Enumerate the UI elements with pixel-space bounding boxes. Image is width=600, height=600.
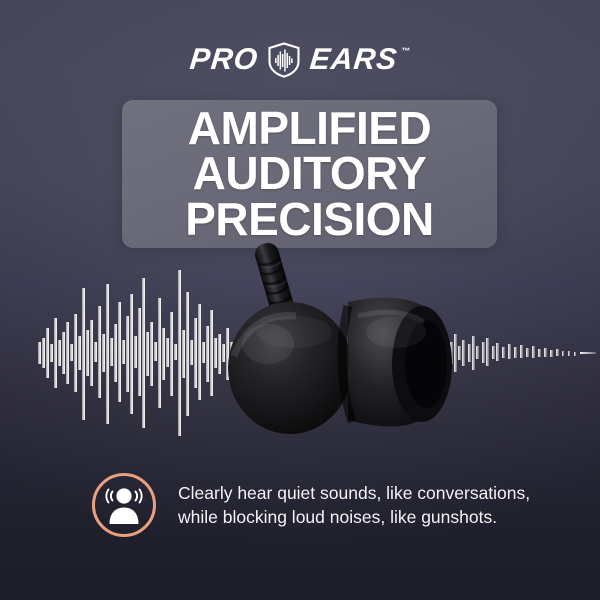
shield-waveform-icon xyxy=(267,42,301,78)
product-stage xyxy=(0,258,600,458)
headline-panel: AMPLIFIED AUDITORY PRECISION xyxy=(122,100,497,248)
caption-line-1: Clearly hear quiet sounds, like conversa… xyxy=(178,481,530,505)
feature-caption: Clearly hear quiet sounds, like conversa… xyxy=(92,470,522,540)
earplug-cap xyxy=(348,298,452,427)
headline-line-3: PRECISION xyxy=(185,197,434,242)
brand-word-pro: PRO xyxy=(188,45,259,75)
headline-line-1: AMPLIFIED xyxy=(188,106,431,151)
brand-logo: PRO EARS ™ xyxy=(0,42,600,78)
brand-word-ears: EARS xyxy=(308,45,399,75)
caption-line-2: while blocking loud noises, like gunshot… xyxy=(178,505,530,529)
advertisement-canvas: PRO EARS ™ AMPLIFIED AUDITORY PRECISION xyxy=(0,0,600,600)
caption-text: Clearly hear quiet sounds, like conversa… xyxy=(178,481,530,529)
person-hearing-icon xyxy=(92,473,156,537)
headline-line-2: AUDITORY xyxy=(193,151,427,196)
black-earplug-product xyxy=(198,236,478,466)
trademark-symbol: ™ xyxy=(401,47,410,56)
person-hearing-glyph xyxy=(103,485,145,525)
